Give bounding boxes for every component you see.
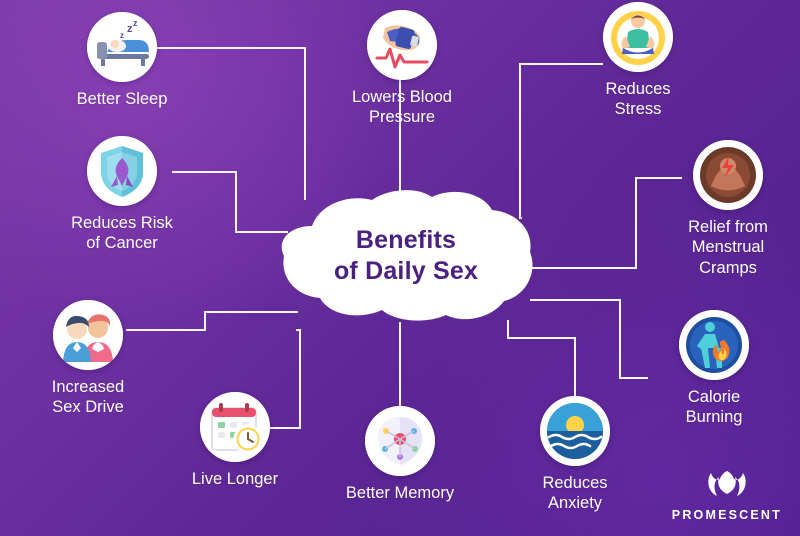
- node-label: Reduces Stress: [605, 79, 670, 120]
- node-lowers-blood-pressure[interactable]: Lowers Blood Pressure: [322, 10, 482, 128]
- node-label: Lowers Blood Pressure: [352, 87, 452, 128]
- node-increased-sex-drive[interactable]: Increased Sex Drive: [8, 300, 168, 418]
- node-label: Increased Sex Drive: [52, 377, 124, 418]
- node-label: Relief from Menstrual Cramps: [688, 217, 768, 278]
- infographic-canvas: Benefits of Daily Sex z z z Better Sleep: [0, 0, 800, 536]
- node-relief-from-menstrual-cramps[interactable]: Relief from Menstrual Cramps: [648, 140, 800, 278]
- node-label: Live Longer: [192, 469, 278, 489]
- page-title: Benefits of Daily Sex: [276, 188, 536, 323]
- node-better-sleep[interactable]: z z z Better Sleep: [42, 12, 202, 109]
- center-blob: Benefits of Daily Sex: [276, 188, 536, 323]
- calorie-burn-icon: [679, 310, 749, 380]
- menstrual-cramps-icon: [693, 140, 763, 210]
- cancer-ribbon-shield-icon: [87, 136, 157, 206]
- node-label: Better Memory: [346, 483, 454, 503]
- blood-pressure-cuff-icon: [367, 10, 437, 80]
- svg-text:z: z: [120, 31, 124, 40]
- promescent-ram-icon: [705, 470, 749, 505]
- node-label: Better Sleep: [77, 89, 168, 109]
- couple-icon: [53, 300, 123, 370]
- svg-text:z: z: [133, 18, 138, 28]
- sleeping-bed-icon: z z z: [87, 12, 157, 82]
- node-calorie-burning[interactable]: Calorie Burning: [634, 310, 794, 428]
- node-reduces-stress[interactable]: Reduces Stress: [558, 2, 718, 120]
- node-reduces-anxiety[interactable]: Reduces Anxiety: [495, 396, 655, 514]
- node-label: Calorie Burning: [686, 387, 743, 428]
- node-better-memory[interactable]: Better Memory: [320, 406, 480, 503]
- brand-name: PROMESCENT: [672, 508, 782, 522]
- calendar-clock-icon: [200, 392, 270, 462]
- brand-logo: PROMESCENT: [672, 470, 782, 522]
- node-label: Reduces Risk of Cancer: [71, 213, 173, 254]
- node-label: Reduces Anxiety: [542, 473, 607, 514]
- title-line-2: of Daily Sex: [334, 256, 478, 287]
- brain-icon: [365, 406, 435, 476]
- sunset-sea-icon: [540, 396, 610, 466]
- meditating-person-icon: [603, 2, 673, 72]
- node-live-longer[interactable]: Live Longer: [155, 392, 315, 489]
- node-reduces-risk-of-cancer[interactable]: Reduces Risk of Cancer: [42, 136, 202, 254]
- title-line-1: Benefits: [356, 225, 456, 256]
